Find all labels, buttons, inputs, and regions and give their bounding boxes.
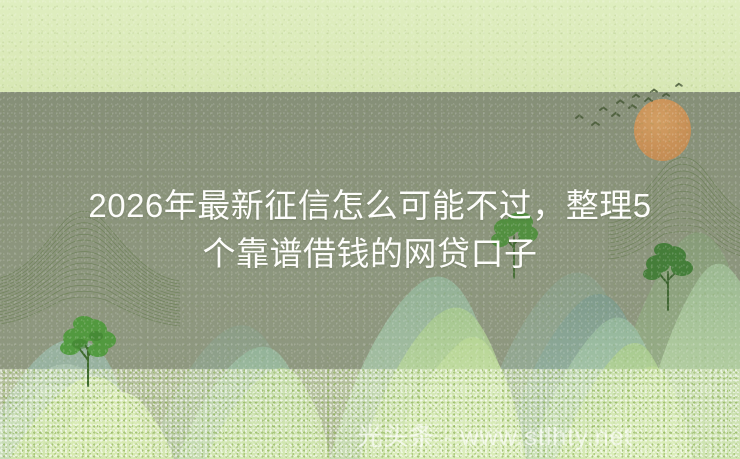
- page-title: 2026年最新征信怎么可能不过，整理5 个靠谱借钱的网贷口子: [0, 182, 740, 278]
- title-line-1: 2026年最新征信怎么可能不过，整理5: [0, 182, 740, 230]
- title-line-2: 个靠谱借钱的网贷口子: [0, 230, 740, 278]
- article-cover-image: 2026年最新征信怎么可能不过，整理5 个靠谱借钱的网贷口子 光头条 - www…: [0, 0, 740, 459]
